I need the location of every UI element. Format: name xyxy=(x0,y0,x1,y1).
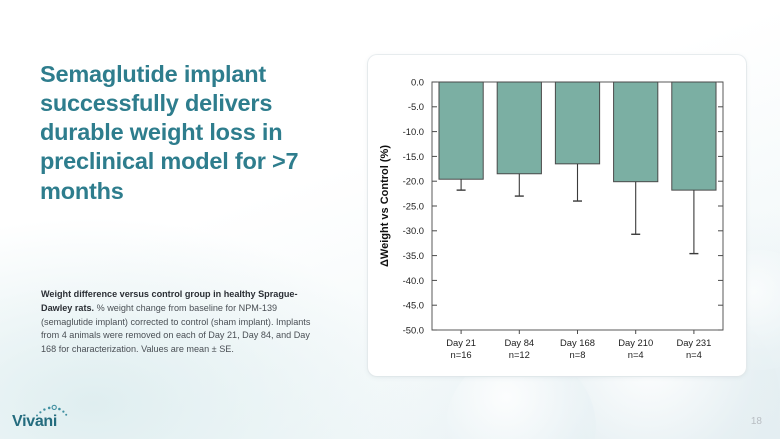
bar-chart: 0.0-5.0-10.0-15.0-20.0-25.0-30.0-35.0-40… xyxy=(368,55,746,376)
y-axis-label: ΔWeight vs Control (%) xyxy=(379,145,391,267)
x-category-label: Day 210 xyxy=(618,337,653,348)
bar xyxy=(555,82,599,164)
y-tick-label: -25.0 xyxy=(403,200,424,211)
y-tick-label: 0.0 xyxy=(411,76,424,87)
y-tick-label: -35.0 xyxy=(403,250,424,261)
y-tick-label: -15.0 xyxy=(403,151,424,162)
chart-card: 0.0-5.0-10.0-15.0-20.0-25.0-30.0-35.0-40… xyxy=(368,55,746,376)
y-tick-label: -10.0 xyxy=(403,126,424,137)
x-category-sublabel: n=4 xyxy=(686,349,702,360)
x-category-label: Day 84 xyxy=(504,337,534,348)
x-category-label: Day 21 xyxy=(446,337,476,348)
y-tick-label: -5.0 xyxy=(408,101,424,112)
y-tick-label: -50.0 xyxy=(403,324,424,335)
x-category-label: Day 168 xyxy=(560,337,595,348)
bar xyxy=(439,82,483,179)
x-category-sublabel: n=16 xyxy=(451,349,472,360)
y-tick-label: -40.0 xyxy=(403,275,424,286)
y-tick-label: -45.0 xyxy=(403,300,424,311)
x-category-sublabel: n=4 xyxy=(628,349,644,360)
x-category-label: Day 231 xyxy=(676,337,711,348)
y-tick-label: -30.0 xyxy=(403,225,424,236)
page-title: Semaglutide implant successfully deliver… xyxy=(40,60,340,206)
x-category-sublabel: n=12 xyxy=(509,349,530,360)
bar xyxy=(497,82,541,174)
bar xyxy=(614,82,658,182)
brand-logo: Vivani xyxy=(12,404,82,432)
page-number: 18 xyxy=(751,416,762,427)
brand-wordmark: Vivani xyxy=(12,413,57,431)
y-tick-label: -20.0 xyxy=(403,176,424,187)
x-category-sublabel: n=8 xyxy=(570,349,586,360)
caption-block: Weight difference versus control group i… xyxy=(41,288,313,357)
bar xyxy=(672,82,716,190)
slide-canvas: Semaglutide implant successfully deliver… xyxy=(0,0,780,439)
